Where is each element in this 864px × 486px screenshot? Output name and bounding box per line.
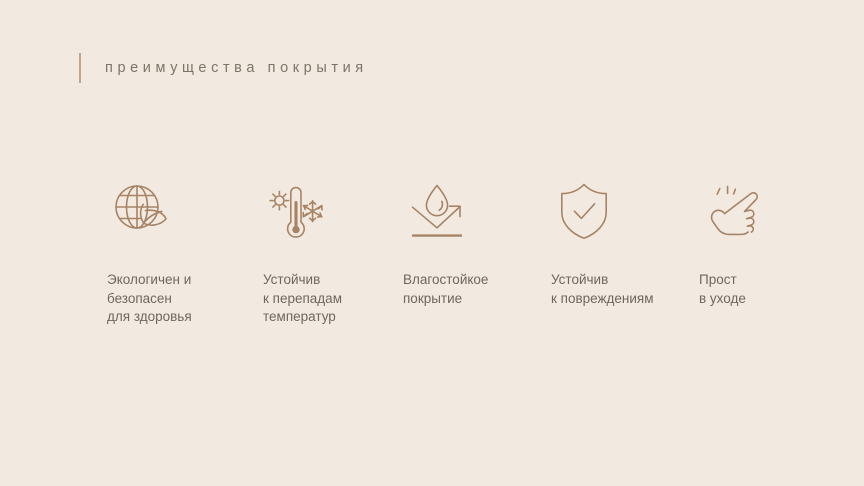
feature-item-temperature: Устойчив к перепадам температур [263,178,403,327]
features-row: Экологичен и безопасен для здоровья [107,178,807,327]
feature-label: Влагостойкое покрытие [403,271,488,308]
feature-label: Устойчив к повреждениям [551,271,654,308]
thermometer-sun-snowflake-icon [264,178,330,244]
feature-label: Устойчив к перепадам температур [263,271,342,327]
slide-root: преимущества покрытия Экологичен и безоп… [0,0,864,486]
shield-check-icon [551,178,617,244]
feature-item-moisture: Влагостойкое покрытие [403,178,551,308]
page-title: преимущества покрытия [105,53,368,83]
feature-item-easy-care: Прост в уходе [699,178,807,308]
globe-leaf-icon [107,178,173,244]
feature-label: Экологичен и безопасен для здоровья [107,271,192,327]
tap-hand-icon [700,178,766,244]
feature-item-durability: Устойчив к повреждениям [551,178,699,308]
accent-rule [79,53,81,83]
section-header: преимущества покрытия [79,53,368,83]
feature-item-eco: Экологичен и безопасен для здоровья [107,178,263,327]
water-repellent-droplet-icon [404,178,470,244]
feature-label: Прост в уходе [699,271,746,308]
